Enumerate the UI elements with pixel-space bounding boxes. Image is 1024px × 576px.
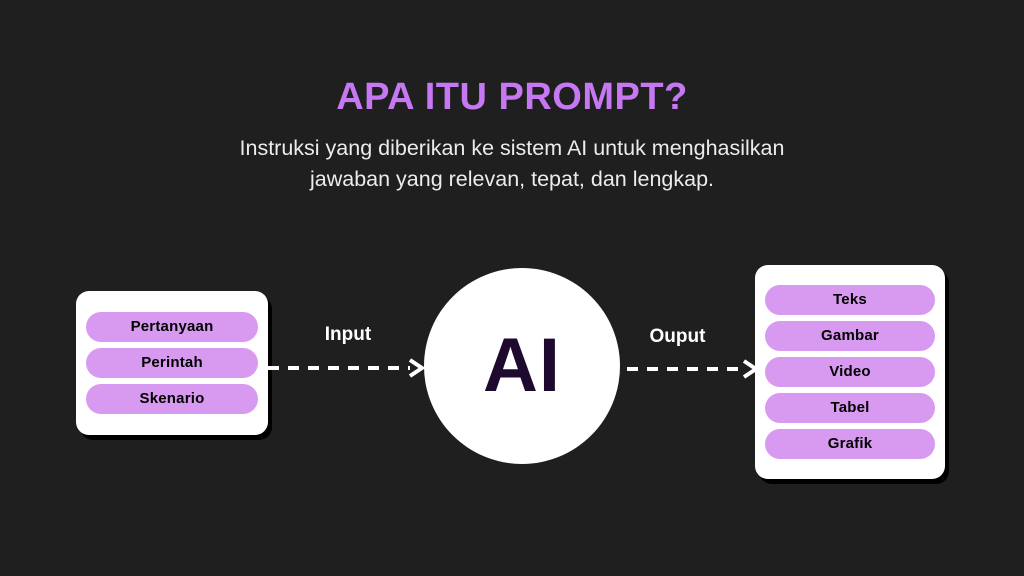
input-item-pertanyaan: Pertanyaan [86, 312, 258, 342]
input-item-perintah: Perintah [86, 348, 258, 378]
output-item-video: Video [765, 357, 935, 387]
output-item-tabel: Tabel [765, 393, 935, 423]
ai-node-label: AI [483, 328, 561, 404]
output-item-gambar: Gambar [765, 321, 935, 351]
output-card: Teks Gambar Video Tabel Grafik [755, 265, 945, 479]
output-item-grafik: Grafik [765, 429, 935, 459]
input-flow-label: Input [268, 324, 428, 346]
input-item-skenario: Skenario [86, 384, 258, 414]
slide-canvas: APA ITU PROMPT? Instruksi yang diberikan… [0, 0, 1024, 576]
dashed-arrow-right-icon-output [607, 354, 762, 384]
input-card: Pertanyaan Perintah Skenario [76, 291, 268, 435]
prompt-flow-diagram: Pertanyaan Perintah Skenario Input AI Ou… [0, 0, 1024, 576]
output-item-teks: Teks [765, 285, 935, 315]
output-flow-label: Ouput [600, 326, 755, 348]
dashed-arrow-right-icon-input [268, 353, 428, 383]
ai-node: AI [424, 268, 620, 464]
